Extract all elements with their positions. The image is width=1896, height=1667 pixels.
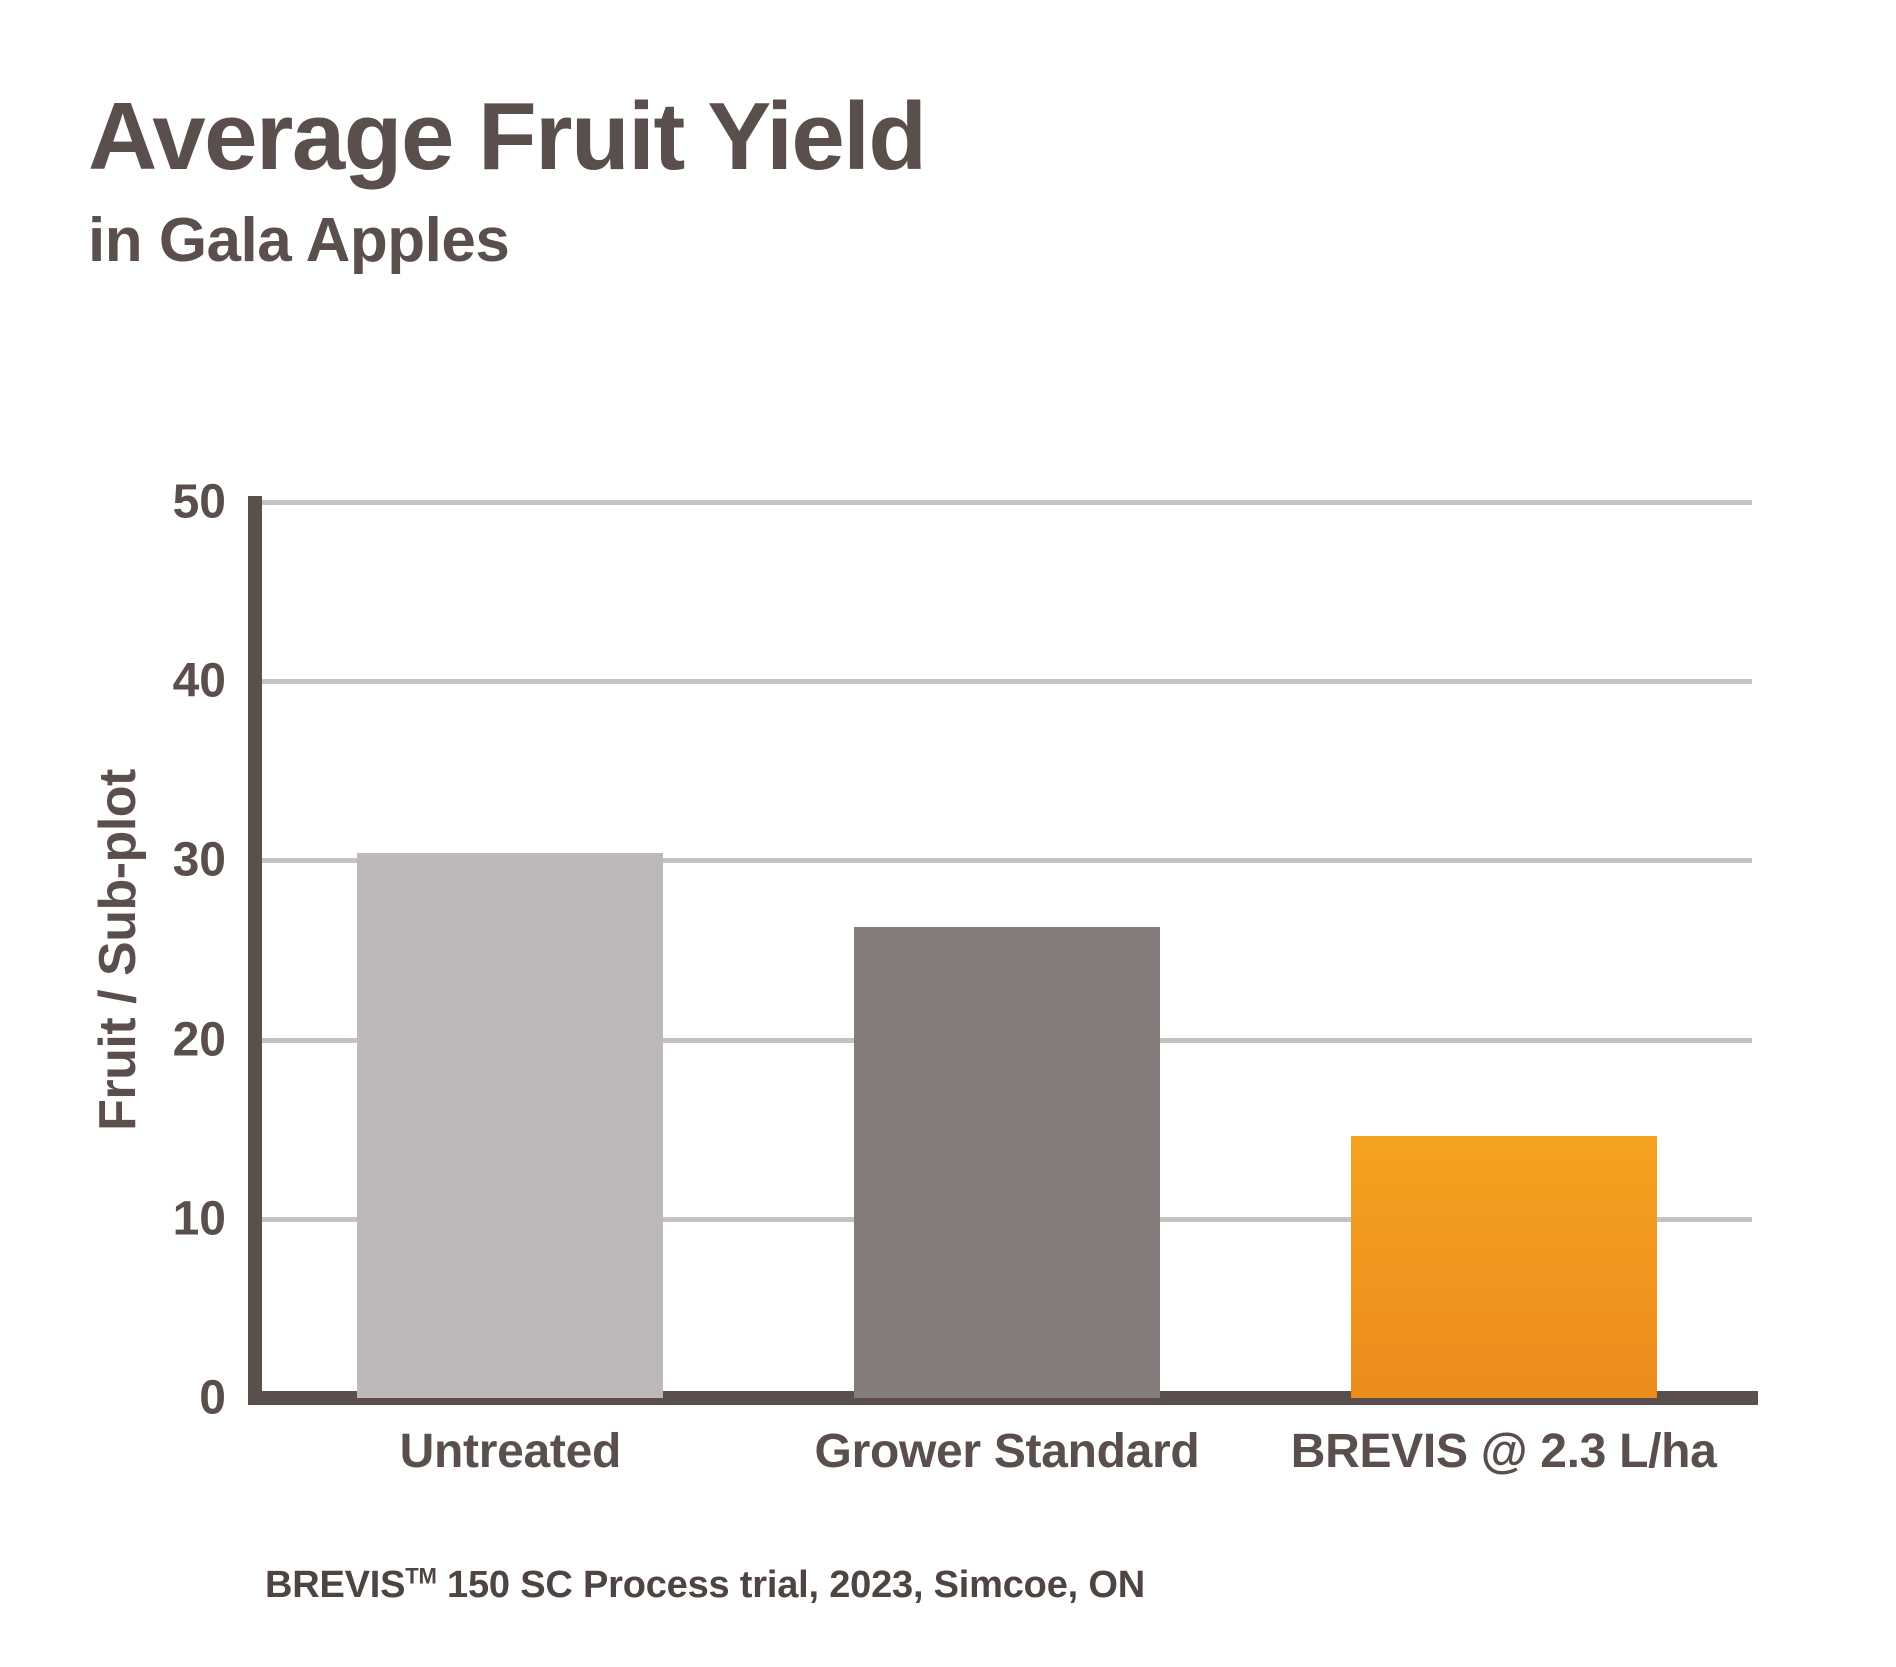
y-tick-label: 50 xyxy=(120,475,248,530)
x-tick-label: Grower Standard xyxy=(815,1424,1200,1479)
bar-1 xyxy=(357,853,663,1398)
y-tick-label: 40 xyxy=(120,654,248,709)
bar-chart: Fruit / Sub-plot 01020304050 UntreatedGr… xyxy=(0,0,1896,1667)
gridline xyxy=(262,679,1752,684)
trademark-symbol: TM xyxy=(405,1563,436,1588)
x-tick-label: BREVIS @ 2.3 L/ha xyxy=(1291,1424,1717,1479)
footnote-brand: BREVIS xyxy=(265,1564,405,1606)
y-tick-label: 10 xyxy=(120,1191,248,1246)
bar-2 xyxy=(854,927,1160,1398)
y-axis-tick-labels: 01020304050 xyxy=(120,0,248,1667)
x-tick-label: Untreated xyxy=(400,1424,621,1479)
y-tick-label: 0 xyxy=(120,1371,248,1426)
y-tick-label: 30 xyxy=(120,833,248,888)
footnote-text: 150 SC Process trial, 2023, Simcoe, ON xyxy=(437,1564,1145,1606)
footnote: BREVISTM 150 SC Process trial, 2023, Sim… xyxy=(265,1564,1145,1607)
bar-3 xyxy=(1351,1136,1657,1398)
gridline xyxy=(262,500,1752,505)
chart-page: Average Fruit Yield in Gala Apples Fruit… xyxy=(0,0,1896,1667)
y-tick-label: 20 xyxy=(120,1012,248,1067)
y-axis-line xyxy=(248,496,262,1404)
